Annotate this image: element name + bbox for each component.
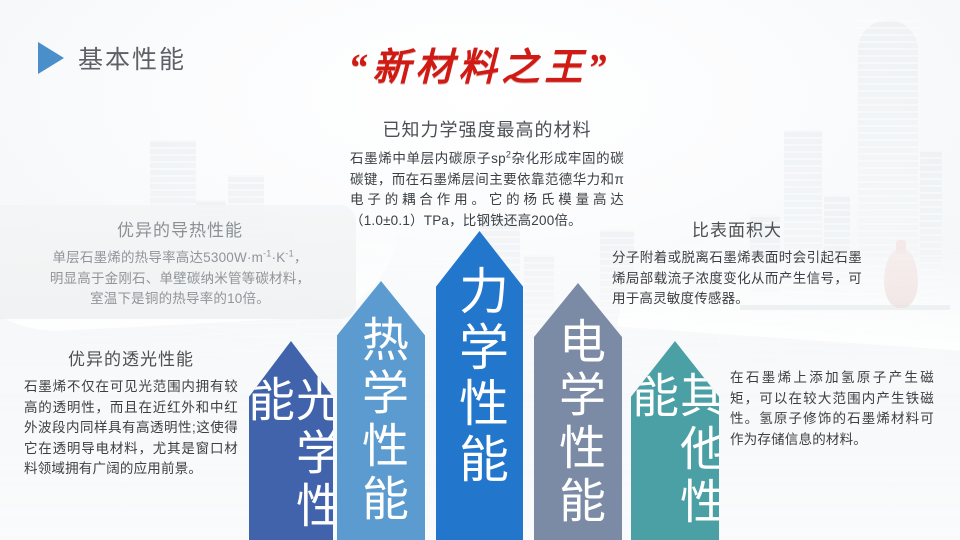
block-heading: 优异的导热性能	[46, 216, 314, 241]
text-block-thermal: 优异的导热性能 单层石墨烯的热导率高达5300W·m-1·K-1，明显高于金刚石…	[46, 216, 314, 310]
text-block-optical: 优异的透光性能 石墨烯不仅在可见光范围内拥有较高的透明性，而且在近红外和中红外波…	[24, 345, 238, 480]
arrow-label: 热学性能	[357, 315, 405, 527]
arrow-label: 光学性能	[243, 375, 339, 540]
block-heading: 比表面积大	[612, 216, 862, 241]
slide-canvas: 基本性能 “新材料之王” 优异的导热性能 单层石墨烯的热导率高达5300W·m-…	[0, 0, 960, 540]
main-title: “新材料之王”	[0, 36, 960, 91]
text-block-mechanical: 已知力学强度最高的材料 石墨烯中单层内碳原子sp2杂化形成牢固的碳碳键，而在石墨…	[350, 116, 624, 231]
arrow-label: 力学性能	[454, 265, 505, 489]
block-heading: 已知力学强度最高的材料	[350, 116, 624, 142]
arrow-label: 其他性能	[627, 371, 723, 540]
block-body: 在石墨烯上添加氢原子产生磁矩，可以在较大范围内产生铁磁性。氢原子修饰的石墨烯材料…	[730, 368, 934, 450]
arrow-label: 电学性能	[554, 317, 602, 529]
arrow-electrical-properties[interactable]: 电学性能	[534, 283, 622, 540]
block-body: 石墨烯中单层内碳原子sp2杂化形成牢固的碳碳键，而在石墨烯层间主要依靠范德华力和…	[350, 149, 624, 231]
arrow-thermal-properties[interactable]: 热学性能	[337, 281, 425, 540]
block-body: 单层石墨烯的热导率高达5300W·m-1·K-1，明显高于金刚石、单壁碳纳米管等…	[46, 248, 314, 310]
decorative-vase	[884, 250, 918, 308]
block-heading: 优异的透光性能	[24, 345, 238, 370]
text-block-other: 在石墨烯上添加氢原子产生磁矩，可以在较大范围内产生铁磁性。氢原子修饰的石墨烯材料…	[730, 368, 934, 450]
block-body: 石墨烯不仅在可见光范围内拥有较高的透明性，而且在近红外和中红外波段内同样具有高透…	[24, 377, 238, 480]
block-body: 分子附着或脱离石墨烯表面时会引起石墨烯局部载流子浓度变化从而产生信号，可用于高灵…	[612, 248, 862, 310]
text-block-surface-area: 比表面积大 分子附着或脱离石墨烯表面时会引起石墨烯局部载流子浓度变化从而产生信号…	[612, 216, 862, 310]
arrow-mechanical-properties[interactable]: 力学性能	[436, 231, 523, 540]
